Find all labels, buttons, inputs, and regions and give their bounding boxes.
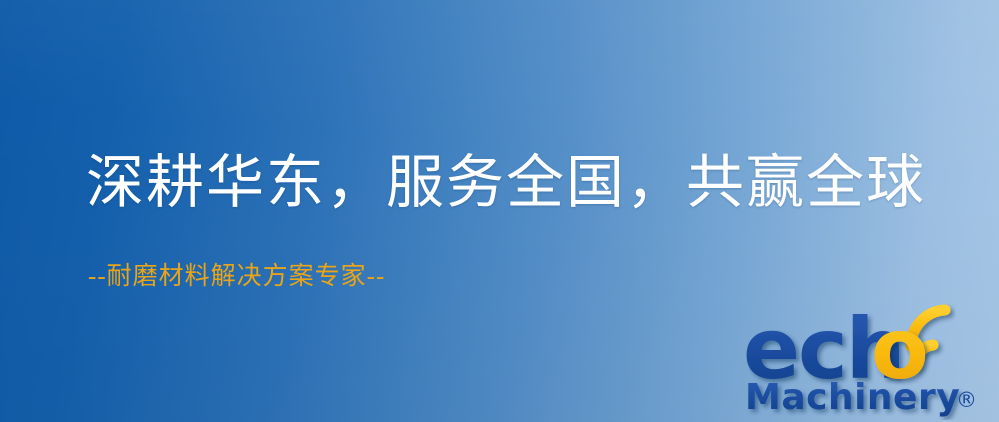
company-logo[interactable]: ech o Machinery ® [741,292,993,420]
banner-headline: 深耕华东，服务全国，共赢全球 [86,154,926,212]
hero-banner: 深耕华东，服务全国，共赢全球 --耐磨材料解决方案专家-- [0,0,999,422]
registered-trademark-icon: ® [956,388,977,412]
logo-tagline: Machinery [745,377,960,418]
banner-subtitle: --耐磨材料解决方案专家-- [88,264,385,289]
